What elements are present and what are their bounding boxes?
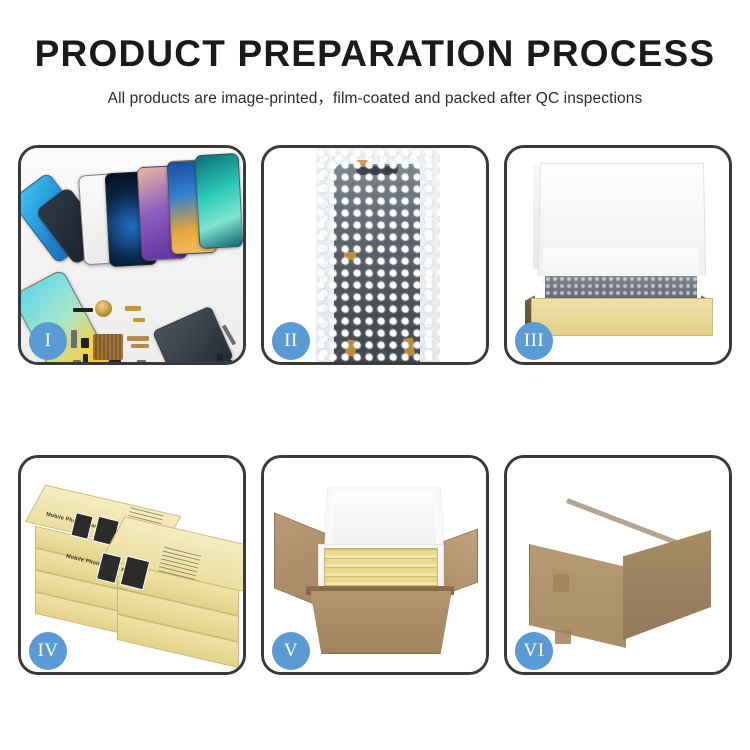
spare-part <box>137 360 146 362</box>
step-badge-3: III <box>515 322 553 360</box>
vibration-motor-part <box>95 300 112 317</box>
bubble-texture-front <box>316 148 440 362</box>
step-badge-2: II <box>272 322 310 360</box>
spare-part <box>127 336 149 341</box>
page-subtitle: All products are image-printed，film-coat… <box>0 86 750 108</box>
process-step-6[interactable]: VI <box>504 455 732 675</box>
process-step-1[interactable]: I <box>18 145 246 365</box>
process-step-2[interactable]: II <box>261 145 489 365</box>
step-badge-6: VI <box>515 632 553 670</box>
spare-part <box>217 354 223 360</box>
page-header: PRODUCT PREPARATION PROCESS All products… <box>0 0 750 108</box>
process-step-grid: I II <box>18 145 732 675</box>
spare-part <box>131 344 149 348</box>
spare-part <box>109 360 121 362</box>
step-badge-1: I <box>29 322 67 360</box>
box-front-panel <box>531 298 713 336</box>
spare-part <box>73 308 93 312</box>
screw-tray-part <box>93 334 123 360</box>
process-step-4[interactable]: Mobile Phone Spare Parts Mobile Phone Sp… <box>18 455 246 675</box>
step-badge-4: IV <box>29 632 67 670</box>
step-badge-5: V <box>272 632 310 670</box>
carton-tape-patch <box>555 630 571 644</box>
spare-part <box>227 360 232 362</box>
page-title: PRODUCT PREPARATION PROCESS <box>0 34 750 75</box>
carton-tape-patch <box>553 574 569 592</box>
carton-front-face <box>529 544 626 648</box>
process-step-5[interactable]: V <box>261 455 489 675</box>
process-step-3[interactable]: III <box>504 145 732 365</box>
spare-part <box>71 330 77 348</box>
carton-body <box>310 590 452 654</box>
spare-part <box>73 360 81 362</box>
spare-part <box>133 318 145 322</box>
footer-whitespace <box>0 688 750 750</box>
spare-part <box>125 306 141 311</box>
spare-part <box>83 354 88 362</box>
phone-display-teal <box>195 153 243 249</box>
spare-part <box>81 338 89 348</box>
